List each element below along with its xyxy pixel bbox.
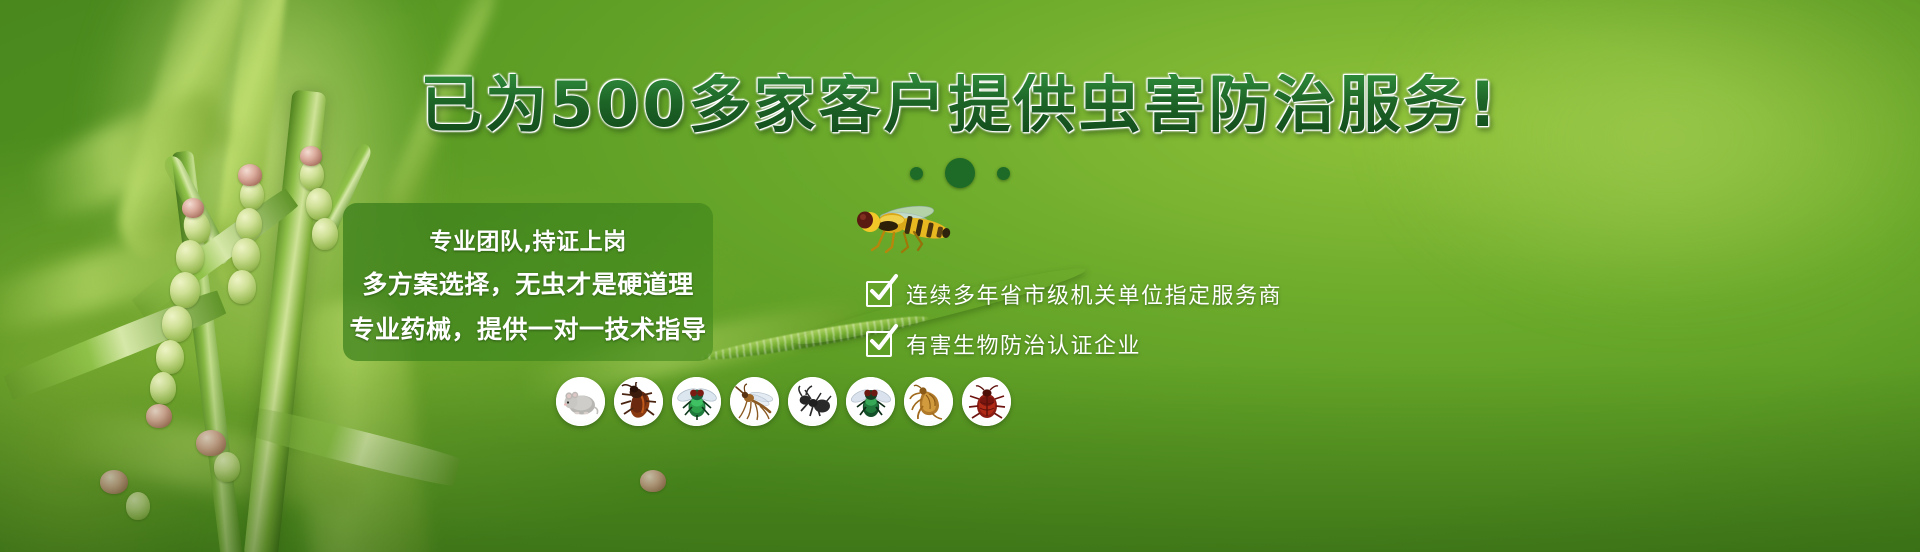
feature-line-1: 专业团队,持证上岗 <box>429 222 626 256</box>
list-item: 有害生物防治认证企业 <box>866 322 1282 366</box>
background-bokeh-right <box>1267 0 1920 386</box>
checkbox-checked-icon <box>866 281 892 307</box>
page-title: 已为500多家客户提供虫害防治服务! <box>0 74 1920 136</box>
credential-label: 有害生物防治认证企业 <box>906 328 1141 360</box>
feature-line-3: 专业药械，提供一对一技术指导 <box>349 310 706 346</box>
dot-small-left <box>910 167 923 180</box>
mosquito-icon[interactable] <box>730 377 779 426</box>
blowfly-icon[interactable] <box>672 377 721 426</box>
ant-icon[interactable] <box>788 377 837 426</box>
dot-small-right <box>997 167 1010 180</box>
credential-label: 连续多年省市级机关单位指定服务商 <box>906 278 1282 310</box>
hoverfly-icon <box>848 200 956 258</box>
flea-icon[interactable] <box>904 377 953 426</box>
feature-panel-text: 专业团队,持证上岗 多方案选择，无虫才是硬道理 专业药械，提供一对一技术指导 <box>343 203 713 361</box>
checkbox-checked-icon <box>866 331 892 357</box>
feature-line-2: 多方案选择，无虫才是硬道理 <box>362 265 694 301</box>
cockroach-icon[interactable] <box>614 377 663 426</box>
promo-banner: 已为500多家客户提供虫害防治服务! 已为500多家客户提供虫害防治服务! 专业… <box>0 0 1920 552</box>
housefly-icon[interactable] <box>846 377 895 426</box>
bedbug-icon[interactable] <box>962 377 1011 426</box>
pest-icon-row <box>556 377 1011 426</box>
dot-large-center <box>945 158 975 188</box>
list-item: 连续多年省市级机关单位指定服务商 <box>866 272 1282 316</box>
mouse-icon[interactable] <box>556 377 605 426</box>
decorative-dots <box>0 158 1920 188</box>
credential-list: 连续多年省市级机关单位指定服务商 有害生物防治认证企业 <box>866 272 1282 372</box>
